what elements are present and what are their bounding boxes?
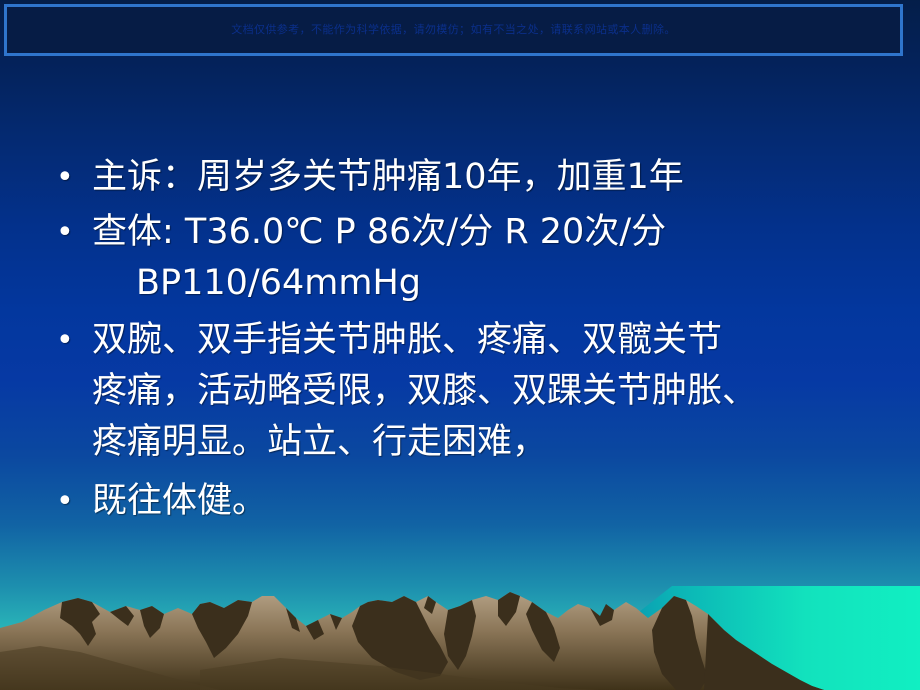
bullet-marker-icon: • xyxy=(46,207,92,258)
slide-body: • 主诉：周岁多关节肿痛10年，加重1年 • 查体: T36.0℃ P 86次/… xyxy=(46,152,876,527)
bullet-line: 疼痛，活动略受限，双膝、双踝关节肿胀、 xyxy=(92,366,876,417)
mountain-scenery-graphic xyxy=(0,530,920,690)
bullet-marker-icon: • xyxy=(46,152,92,203)
bullet-line: 双腕、双手指关节肿胀、疼痛、双髋关节 xyxy=(92,315,876,366)
bullet-line-vitals: 查体: T36.0℃ P 86次/分 R 20次/分 xyxy=(92,207,876,258)
bullet-line-bloodpressure: BP110/64mmHg xyxy=(92,258,876,309)
bullet-marker-icon: • xyxy=(46,476,92,527)
bullet-item-3: • 双腕、双手指关节肿胀、疼痛、双髋关节 疼痛，活动略受限，双膝、双踝关节肿胀、… xyxy=(46,315,876,468)
bullet-line: 主诉：周岁多关节肿痛10年，加重1年 xyxy=(92,152,876,203)
bullet-text-2: 查体: T36.0℃ P 86次/分 R 20次/分 BP110/64mmHg xyxy=(92,207,876,309)
bullet-item-1: • 主诉：周岁多关节肿痛10年，加重1年 xyxy=(46,152,876,203)
bullet-text-4: 既往体健。 xyxy=(92,476,876,527)
bullet-item-2: • 查体: T36.0℃ P 86次/分 R 20次/分 BP110/64mmH… xyxy=(46,207,876,309)
bullet-marker-icon: • xyxy=(46,315,92,366)
bullet-item-4: • 既往体健。 xyxy=(46,476,876,527)
bullet-text-1: 主诉：周岁多关节肿痛10年，加重1年 xyxy=(92,152,876,203)
slide-canvas: 文档仅供参考，不能作为科学依据，请勿模仿；如有不当之处，请联系网站或本人删除。 … xyxy=(0,0,920,690)
bullet-text-3: 双腕、双手指关节肿胀、疼痛、双髋关节 疼痛，活动略受限，双膝、双踝关节肿胀、 疼… xyxy=(92,315,876,468)
bullet-line: 疼痛明显。站立、行走困难， xyxy=(92,417,876,468)
bullet-line: 既往体健。 xyxy=(92,476,876,527)
notice-text: 文档仅供参考，不能作为科学依据，请勿模仿；如有不当之处，请联系网站或本人删除。 xyxy=(0,0,907,60)
mountain-svg xyxy=(0,530,920,690)
